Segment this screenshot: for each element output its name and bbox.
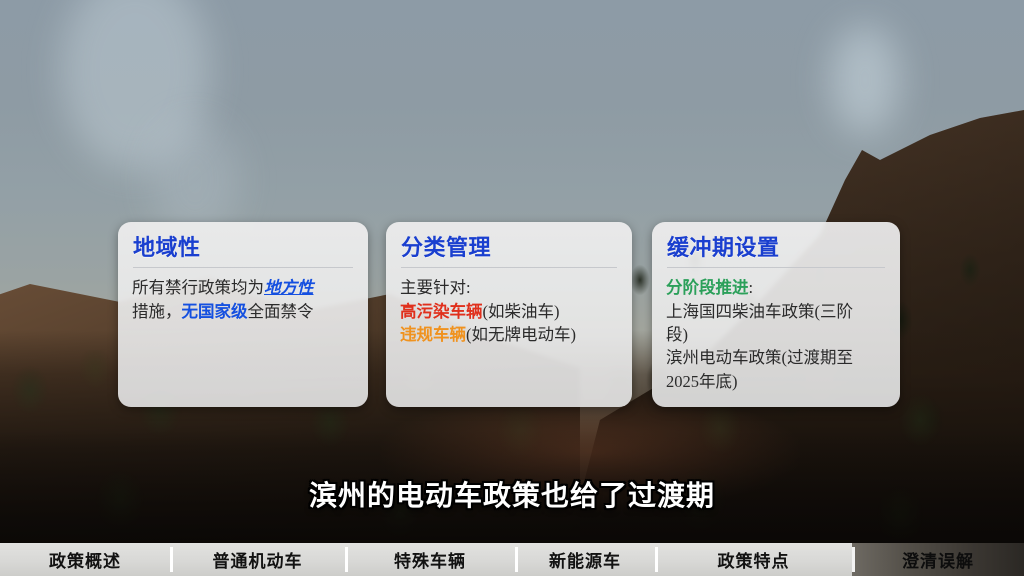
card-line: 违规车辆(如无牌电动车): [400, 323, 618, 346]
card-line: 分阶段推进:: [666, 276, 886, 299]
screen-root: 地域性 所有禁行政策均为地方性 措施，无国家级全面禁令 分类管理 主要针对: 高…: [0, 0, 1024, 576]
card-body: 所有禁行政策均为地方性 措施，无国家级全面禁令: [132, 276, 354, 323]
card-body: 主要针对: 高污染车辆(如柴油车) 违规车辆(如无牌电动车): [400, 276, 618, 346]
card-text-segment: 所有禁行政策均为: [132, 278, 264, 297]
card-divider: [667, 267, 885, 268]
card-text-segment: 主要针对:: [400, 278, 471, 297]
card-divider: [401, 267, 617, 268]
card-text-segment: (如无牌电动车): [466, 325, 576, 344]
info-card-regional[interactable]: 地域性 所有禁行政策均为地方性 措施，无国家级全面禁令: [118, 222, 368, 407]
card-text-segment: 全面禁令: [248, 302, 314, 321]
card-line: 主要针对:: [400, 276, 618, 299]
nav-item-ordinary-vehicle[interactable]: 普通机动车: [170, 543, 345, 576]
card-highlight-segment: 地方性: [264, 278, 314, 297]
card-line: 上海国四柴油车政策(三阶: [666, 300, 886, 323]
nav-item-label: 政策概述: [49, 547, 121, 572]
card-line: 滨州电动车政策(过渡期至: [666, 346, 886, 369]
card-highlight-segment: 违规车辆: [400, 325, 466, 344]
card-title: 缓冲期设置: [667, 236, 887, 260]
nav-item-label: 澄清误解: [902, 547, 974, 572]
video-subtitle: 滨州的电动车政策也给了过渡期: [0, 474, 1024, 514]
card-line: 所有禁行政策均为地方性: [132, 276, 354, 299]
card-text-segment: 滨州电动车政策(过渡期至: [666, 348, 853, 367]
card-text-segment: (如柴油车): [483, 302, 560, 321]
card-text-segment: 2025年底): [666, 372, 738, 391]
bottom-navigation-bar: 政策概述 普通机动车 特殊车辆 新能源车 政策特点 澄清误解: [0, 543, 1024, 576]
info-card-buffer-period[interactable]: 缓冲期设置 分阶段推进: 上海国四柴油车政策(三阶 段) 滨州电动车政策(过渡期…: [652, 222, 900, 407]
card-highlight-segment: 无国家级: [182, 302, 248, 321]
nav-item-label: 特殊车辆: [394, 547, 466, 572]
nav-item-policy-overview[interactable]: 政策概述: [0, 543, 170, 576]
card-title: 地域性: [133, 236, 355, 260]
card-line: 2025年底): [666, 370, 886, 393]
nav-item-label: 普通机动车: [213, 547, 303, 572]
card-text-segment: 措施，: [132, 302, 182, 321]
card-highlight-segment: 分阶段推进: [666, 278, 749, 297]
info-card-classified-management[interactable]: 分类管理 主要针对: 高污染车辆(如柴油车) 违规车辆(如无牌电动车): [386, 222, 632, 407]
card-line: 高污染车辆(如柴油车): [400, 300, 618, 323]
card-line: 措施，无国家级全面禁令: [132, 300, 354, 323]
card-text-segment: 段): [666, 325, 688, 344]
card-divider: [133, 267, 353, 268]
card-line: 段): [666, 323, 886, 346]
card-text-segment: 上海国四柴油车政策(三阶: [666, 302, 853, 321]
nav-item-new-energy-vehicle[interactable]: 新能源车: [515, 543, 655, 576]
nav-item-special-vehicle[interactable]: 特殊车辆: [345, 543, 515, 576]
card-title: 分类管理: [401, 236, 619, 260]
card-body: 分阶段推进: 上海国四柴油车政策(三阶 段) 滨州电动车政策(过渡期至 2025…: [666, 276, 886, 393]
card-text-segment: :: [749, 278, 754, 297]
nav-item-policy-features[interactable]: 政策特点: [655, 543, 852, 576]
nav-item-label: 新能源车: [549, 547, 621, 572]
card-highlight-segment: 高污染车辆: [400, 302, 483, 321]
nav-item-clarify-misunderstanding[interactable]: 澄清误解: [852, 543, 1024, 576]
nav-item-label: 政策特点: [718, 547, 790, 572]
